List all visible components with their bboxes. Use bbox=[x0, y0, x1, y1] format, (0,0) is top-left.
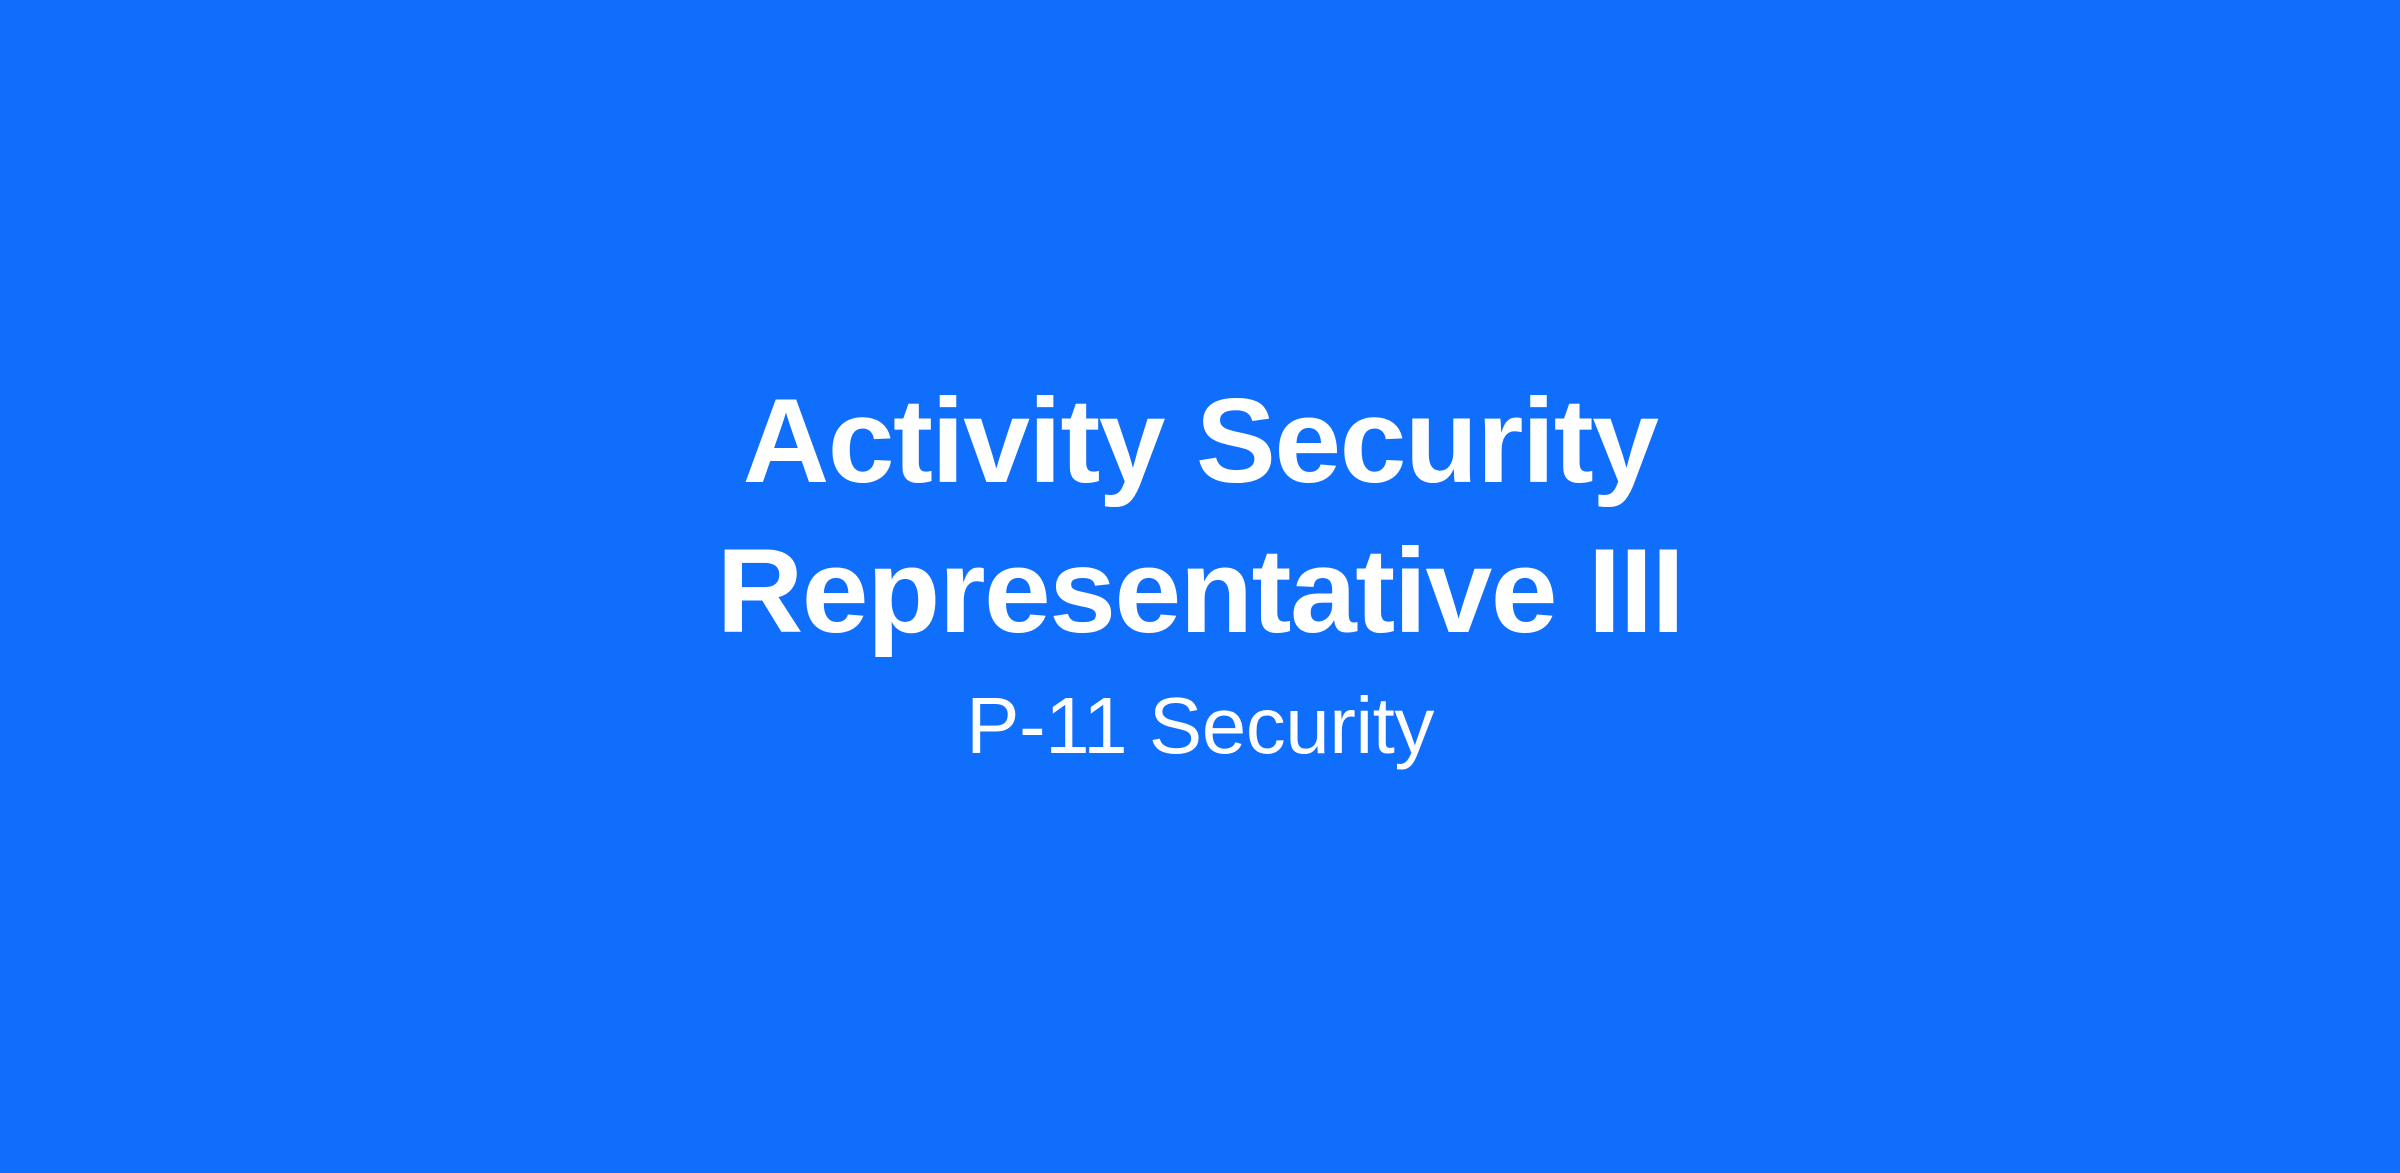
job-posting-hero-banner: Activity Security Representative III P-1… bbox=[0, 0, 2400, 1173]
job-title: Activity Security Representative III bbox=[700, 366, 1700, 666]
hero-text-block: Activity Security Representative III P-1… bbox=[700, 366, 1700, 772]
job-subtitle: P-11 Security bbox=[700, 680, 1700, 772]
